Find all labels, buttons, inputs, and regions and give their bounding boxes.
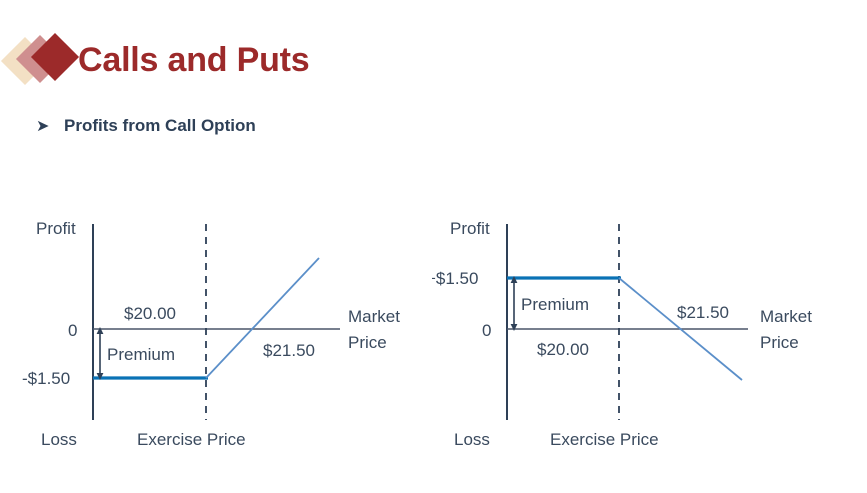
premium-label: Premium <box>107 345 175 364</box>
x-axis-label-price: Price <box>760 333 799 352</box>
x-axis-label-market: Market <box>760 307 812 326</box>
exercise-price-value-label: $20.00 <box>124 304 176 323</box>
call-option-profit-diagram: Profit $20.00 0 Premium -$1.50 $21.50 Ma… <box>0 200 440 465</box>
call-option-writer-profit-diagram: Profit +$1.50 Premium 0 $20.00 $21.50 Ma… <box>432 200 867 465</box>
exercise-price-value-label: $20.00 <box>537 340 589 359</box>
breakeven-label: $21.50 <box>263 341 315 360</box>
payoff-slope-line <box>206 258 319 378</box>
y-tick-negative-label: -$1.50 <box>22 369 70 388</box>
slide-header: Calls and Puts <box>0 28 520 92</box>
bullet-item: ➤ Profits from Call Option <box>36 112 256 140</box>
y-axis-label-profit: Profit <box>36 219 76 238</box>
y-tick-positive-label: +$1.50 <box>432 269 478 288</box>
premium-label: Premium <box>521 295 589 314</box>
zero-tick-label: 0 <box>482 321 491 340</box>
premium-measure-arrow <box>511 276 518 331</box>
loss-label: Loss <box>41 430 77 449</box>
exercise-price-label: Exercise Price <box>137 430 246 449</box>
premium-measure-arrow <box>97 327 104 380</box>
breakeven-label: $21.50 <box>677 303 729 322</box>
diamonds-logo-icon <box>8 36 80 86</box>
bullet-item-label: Profits from Call Option <box>64 116 256 136</box>
exercise-price-label: Exercise Price <box>550 430 659 449</box>
x-axis-label-market: Market <box>348 307 400 326</box>
x-axis-label-price: Price <box>348 333 387 352</box>
loss-label: Loss <box>454 430 490 449</box>
bullet-arrow-icon: ➤ <box>36 116 64 136</box>
y-axis-label-profit: Profit <box>450 219 490 238</box>
page-title: Calls and Puts <box>78 28 309 92</box>
zero-tick-label: 0 <box>68 321 77 340</box>
